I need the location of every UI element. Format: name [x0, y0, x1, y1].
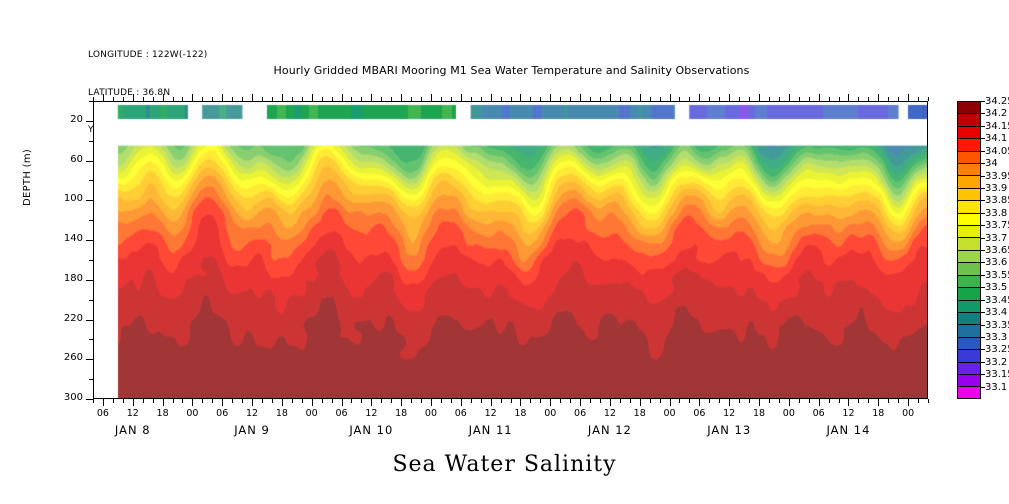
x-hour-label: 00 — [892, 408, 924, 419]
x-tick-top — [312, 94, 313, 101]
colorbar-swatch — [957, 163, 981, 175]
x-tick-top — [302, 97, 303, 101]
x-minor-tick — [93, 399, 94, 403]
colorbar-swatch — [957, 386, 981, 398]
x-tick — [520, 399, 521, 406]
x-tick-top — [749, 97, 750, 101]
x-tick — [222, 399, 223, 406]
x-minor-tick — [540, 399, 541, 403]
x-tick-top — [789, 94, 790, 101]
chart-title: Hourly Gridded MBARI Mooring M1 Sea Wate… — [0, 64, 1009, 77]
y-tick-label: 260 — [55, 352, 83, 363]
x-tick-top — [769, 97, 770, 101]
x-minor-tick — [481, 399, 482, 403]
x-tick-top — [650, 97, 651, 101]
x-tick-top — [421, 97, 422, 101]
x-hour-label: 12 — [355, 408, 387, 419]
x-tick — [848, 399, 849, 406]
x-minor-tick — [351, 399, 352, 403]
colorbar-tick — [981, 176, 985, 177]
colorbar-swatch — [957, 250, 981, 262]
x-tick-top — [501, 97, 502, 101]
x-tick-top — [829, 97, 830, 101]
x-hour-label: 06 — [87, 408, 119, 419]
x-minor-tick — [600, 399, 601, 403]
colorbar-tick — [981, 387, 985, 388]
x-minor-tick — [620, 399, 621, 403]
x-minor-tick — [749, 399, 750, 403]
colorbar-tick — [981, 337, 985, 338]
y-minor-tick — [89, 141, 93, 142]
colorbar-tick — [981, 349, 985, 350]
x-tick — [431, 399, 432, 406]
x-tick-top — [898, 97, 899, 101]
x-tick-top — [630, 97, 631, 101]
x-tick-top — [173, 97, 174, 101]
x-tick-top — [262, 97, 263, 101]
x-tick-top — [491, 94, 492, 101]
x-tick — [580, 399, 581, 406]
x-hour-label: 18 — [147, 408, 179, 419]
x-tick-top — [153, 97, 154, 101]
colorbar-label: 33.7 — [985, 233, 1007, 244]
latitude-text: LATITUDE : 36.8N — [88, 87, 208, 100]
x-tick-top — [252, 94, 253, 101]
x-tick — [133, 399, 134, 406]
colorbar-label: 33.3 — [985, 332, 1007, 343]
x-tick — [789, 399, 790, 406]
x-hour-label: 18 — [743, 408, 775, 419]
x-tick-top — [908, 94, 909, 101]
colorbar-swatch — [957, 175, 981, 187]
x-tick-top — [699, 94, 700, 101]
y-minor-tick — [89, 300, 93, 301]
x-hour-label: 00 — [534, 408, 566, 419]
y-axis-title: DEPTH (m) — [22, 149, 33, 206]
colorbar-tick — [981, 362, 985, 363]
x-tick-top — [580, 94, 581, 101]
x-hour-label: 18 — [862, 408, 894, 419]
variable-label: Sea Water Salinity — [0, 452, 1009, 477]
y-minor-tick — [89, 220, 93, 221]
x-day-label: JAN 10 — [316, 423, 426, 437]
colorbar-label: 33.95 — [985, 171, 1009, 182]
colorbar-label: 33.2 — [985, 357, 1007, 368]
x-tick-top — [709, 97, 710, 101]
x-tick-top — [163, 94, 164, 101]
x-hour-label: 06 — [445, 408, 477, 419]
x-tick — [491, 399, 492, 406]
x-minor-tick — [739, 399, 740, 403]
x-tick-top — [779, 97, 780, 101]
x-minor-tick — [391, 399, 392, 403]
colorbar-label: 33.4 — [985, 307, 1007, 318]
x-minor-tick — [242, 399, 243, 403]
y-minor-tick — [89, 180, 93, 181]
x-hour-label: 06 — [683, 408, 715, 419]
x-minor-tick — [839, 399, 840, 403]
colorbar-swatch — [957, 237, 981, 249]
x-hour-label: 12 — [713, 408, 745, 419]
colorbar-tick — [981, 200, 985, 201]
x-hour-label: 18 — [385, 408, 417, 419]
x-tick-top — [441, 97, 442, 101]
x-tick-top — [520, 94, 521, 101]
colorbar-label: 33.35 — [985, 320, 1009, 331]
colorbar-label: 33.9 — [985, 183, 1007, 194]
y-tick — [86, 161, 93, 162]
x-tick-top — [133, 94, 134, 101]
x-hour-label: 12 — [594, 408, 626, 419]
x-tick — [550, 399, 551, 406]
x-tick-top — [928, 97, 929, 101]
x-minor-tick — [570, 399, 571, 403]
x-minor-tick — [511, 399, 512, 403]
colorbar-label: 33.1 — [985, 382, 1007, 393]
x-tick-top — [739, 97, 740, 101]
x-tick-top — [461, 94, 462, 101]
x-tick — [878, 399, 879, 406]
x-tick-top — [202, 97, 203, 101]
x-minor-tick — [660, 399, 661, 403]
x-minor-tick — [113, 399, 114, 403]
x-tick-top — [640, 94, 641, 101]
x-tick-top — [511, 97, 512, 101]
colorbar-tick — [981, 262, 985, 263]
x-tick-top — [292, 97, 293, 101]
x-tick-top — [570, 97, 571, 101]
x-day-label: JAN 13 — [674, 423, 784, 437]
colorbar-label: 34 — [985, 158, 998, 169]
colorbar-label: 33.15 — [985, 369, 1009, 380]
y-tick — [86, 320, 93, 321]
x-minor-tick — [232, 399, 233, 403]
x-minor-tick — [471, 399, 472, 403]
x-tick-top — [123, 97, 124, 101]
y-tick — [86, 399, 93, 400]
x-minor-tick — [501, 399, 502, 403]
x-hour-label: 18 — [504, 408, 536, 419]
x-day-label: JAN 8 — [78, 423, 188, 437]
colorbar-label: 33.85 — [985, 195, 1009, 206]
x-hour-label: 00 — [773, 408, 805, 419]
x-tick — [670, 399, 671, 406]
x-tick-top — [848, 94, 849, 101]
x-minor-tick — [322, 399, 323, 403]
x-minor-tick — [868, 399, 869, 403]
x-tick-top — [530, 97, 531, 101]
x-tick-top — [113, 97, 114, 101]
x-tick-top — [610, 94, 611, 101]
x-hour-label: 00 — [654, 408, 686, 419]
x-tick — [908, 399, 909, 406]
colorbar — [957, 101, 981, 399]
x-hour-label: 12 — [475, 408, 507, 419]
x-minor-tick — [709, 399, 710, 403]
x-tick-top — [411, 97, 412, 101]
colorbar-tick — [981, 163, 985, 164]
colorbar-tick — [981, 101, 985, 102]
x-tick-top — [182, 97, 183, 101]
x-tick-top — [232, 97, 233, 101]
y-tick — [86, 240, 93, 241]
x-tick-top — [401, 94, 402, 101]
x-minor-tick — [421, 399, 422, 403]
y-tick — [86, 121, 93, 122]
x-minor-tick — [679, 399, 680, 403]
colorbar-swatch — [957, 262, 981, 274]
x-minor-tick — [888, 399, 889, 403]
colorbar-swatch — [957, 349, 981, 361]
x-minor-tick — [302, 399, 303, 403]
x-tick-top — [600, 97, 601, 101]
colorbar-label: 34.2 — [985, 108, 1007, 119]
y-minor-tick — [89, 260, 93, 261]
x-tick-top — [858, 97, 859, 101]
x-tick — [192, 399, 193, 406]
x-tick-top — [819, 94, 820, 101]
longitude-text: LONGITUDE : 122W(-122) — [88, 49, 208, 62]
x-hour-label: 00 — [415, 408, 447, 419]
colorbar-label: 34.1 — [985, 133, 1007, 144]
x-tick-top — [351, 97, 352, 101]
y-tick-label: 180 — [55, 273, 83, 284]
x-minor-tick — [858, 399, 859, 403]
x-tick — [759, 399, 760, 406]
x-hour-label: 00 — [176, 408, 208, 419]
x-day-label: JAN 14 — [793, 423, 903, 437]
colorbar-label: 33.6 — [985, 257, 1007, 268]
x-tick-top — [670, 94, 671, 101]
x-tick-top — [689, 97, 690, 101]
x-tick-top — [371, 94, 372, 101]
x-minor-tick — [898, 399, 899, 403]
x-tick-top — [809, 97, 810, 101]
x-minor-tick — [809, 399, 810, 403]
colorbar-label: 33.8 — [985, 208, 1007, 219]
x-minor-tick — [829, 399, 830, 403]
x-tick — [819, 399, 820, 406]
colorbar-swatch — [957, 337, 981, 349]
x-tick-top — [918, 97, 919, 101]
x-tick-top — [143, 97, 144, 101]
x-hour-label: 12 — [236, 408, 268, 419]
x-minor-tick — [530, 399, 531, 403]
x-tick-top — [839, 97, 840, 101]
colorbar-swatch — [957, 312, 981, 324]
x-tick — [342, 399, 343, 406]
x-minor-tick — [719, 399, 720, 403]
x-minor-tick — [173, 399, 174, 403]
y-tick-label: 60 — [55, 154, 83, 165]
x-minor-tick — [123, 399, 124, 403]
colorbar-label: 33.75 — [985, 220, 1009, 231]
x-tick — [282, 399, 283, 406]
colorbar-label: 34.15 — [985, 121, 1009, 132]
colorbar-swatch — [957, 287, 981, 299]
colorbar-swatch — [957, 188, 981, 200]
x-tick-top — [103, 94, 104, 101]
x-tick — [640, 399, 641, 406]
colorbar-tick — [981, 138, 985, 139]
colorbar-tick — [981, 213, 985, 214]
x-tick — [610, 399, 611, 406]
chart-title-text: Hourly Gridded MBARI Mooring M1 Sea Wate… — [274, 64, 750, 77]
x-hour-label: 06 — [803, 408, 835, 419]
colorbar-tick — [981, 151, 985, 152]
x-minor-tick — [769, 399, 770, 403]
x-minor-tick — [590, 399, 591, 403]
x-hour-label: 06 — [206, 408, 238, 419]
x-minor-tick — [153, 399, 154, 403]
colorbar-label: 33.25 — [985, 344, 1009, 355]
x-tick-top — [342, 94, 343, 101]
x-tick-top — [451, 97, 452, 101]
y-tick-label: 300 — [55, 392, 83, 403]
x-tick-top — [550, 94, 551, 101]
x-tick-top — [878, 94, 879, 101]
colorbar-tick — [981, 374, 985, 375]
x-minor-tick — [560, 399, 561, 403]
x-tick — [252, 399, 253, 406]
colorbar-swatch — [957, 138, 981, 150]
colorbar-swatch — [957, 126, 981, 138]
x-tick-top — [729, 94, 730, 101]
x-minor-tick — [212, 399, 213, 403]
colorbar-swatch — [957, 225, 981, 237]
colorbar-tick — [981, 275, 985, 276]
x-minor-tick — [689, 399, 690, 403]
x-minor-tick — [361, 399, 362, 403]
x-tick-top — [242, 97, 243, 101]
y-tick — [86, 359, 93, 360]
x-tick-top — [540, 97, 541, 101]
x-tick-top — [192, 94, 193, 101]
y-tick — [86, 200, 93, 201]
y-tick — [86, 280, 93, 281]
colorbar-tick — [981, 188, 985, 189]
colorbar-label: 33.65 — [985, 245, 1009, 256]
colorbar-swatch — [957, 101, 981, 113]
colorbar-tick — [981, 325, 985, 326]
x-minor-tick — [650, 399, 651, 403]
y-minor-tick — [89, 339, 93, 340]
colorbar-swatch — [957, 275, 981, 287]
colorbar-tick — [981, 300, 985, 301]
x-tick-top — [282, 94, 283, 101]
x-minor-tick — [451, 399, 452, 403]
x-minor-tick — [799, 399, 800, 403]
x-tick-top — [759, 94, 760, 101]
x-tick-top — [590, 97, 591, 101]
x-tick — [729, 399, 730, 406]
colorbar-tick — [981, 250, 985, 251]
colorbar-swatch — [957, 300, 981, 312]
x-minor-tick — [332, 399, 333, 403]
colorbar-swatch — [957, 213, 981, 225]
x-hour-label: 06 — [564, 408, 596, 419]
colorbar-tick — [981, 238, 985, 239]
x-hour-label: 00 — [296, 408, 328, 419]
x-tick-top — [431, 94, 432, 101]
x-minor-tick — [918, 399, 919, 403]
x-tick-top — [868, 97, 869, 101]
x-minor-tick — [928, 399, 929, 403]
x-day-label: JAN 11 — [436, 423, 546, 437]
x-minor-tick — [411, 399, 412, 403]
y-minor-tick — [89, 101, 93, 102]
colorbar-swatch — [957, 374, 981, 386]
x-day-label: JAN 12 — [555, 423, 665, 437]
colorbar-label: 33.45 — [985, 295, 1009, 306]
x-tick-top — [471, 97, 472, 101]
x-tick-top — [272, 97, 273, 101]
x-minor-tick — [272, 399, 273, 403]
x-minor-tick — [441, 399, 442, 403]
x-tick — [461, 399, 462, 406]
x-minor-tick — [182, 399, 183, 403]
colorbar-label: 33.5 — [985, 282, 1007, 293]
x-tick-top — [332, 97, 333, 101]
colorbar-swatch — [957, 151, 981, 163]
x-tick-top — [888, 97, 889, 101]
x-tick — [699, 399, 700, 406]
y-tick-label: 140 — [55, 233, 83, 244]
x-hour-label: 18 — [624, 408, 656, 419]
x-tick-top — [799, 97, 800, 101]
colorbar-label: 34.05 — [985, 146, 1009, 157]
x-minor-tick — [630, 399, 631, 403]
x-tick-top — [560, 97, 561, 101]
salinity-contour-plot — [93, 101, 928, 399]
x-tick — [103, 399, 104, 406]
x-tick-top — [719, 97, 720, 101]
colorbar-swatch — [957, 113, 981, 125]
x-tick-top — [322, 97, 323, 101]
x-tick-top — [93, 97, 94, 101]
x-hour-label: 12 — [117, 408, 149, 419]
y-tick-label: 20 — [55, 114, 83, 125]
x-tick — [163, 399, 164, 406]
x-minor-tick — [202, 399, 203, 403]
colorbar-label: 33.55 — [985, 270, 1009, 281]
y-tick-label: 100 — [55, 193, 83, 204]
x-tick — [312, 399, 313, 406]
x-hour-label: 12 — [832, 408, 864, 419]
x-tick — [401, 399, 402, 406]
x-tick-top — [481, 97, 482, 101]
x-day-label: JAN 9 — [197, 423, 307, 437]
x-tick-top — [679, 97, 680, 101]
x-tick-top — [660, 97, 661, 101]
x-minor-tick — [143, 399, 144, 403]
x-tick-top — [381, 97, 382, 101]
colorbar-tick — [981, 113, 985, 114]
y-tick-label: 220 — [55, 313, 83, 324]
colorbar-label: 34.25 — [985, 96, 1009, 107]
x-minor-tick — [381, 399, 382, 403]
x-tick-top — [212, 97, 213, 101]
y-minor-tick — [89, 379, 93, 380]
x-tick-top — [361, 97, 362, 101]
x-minor-tick — [779, 399, 780, 403]
x-tick — [371, 399, 372, 406]
x-minor-tick — [292, 399, 293, 403]
colorbar-tick — [981, 225, 985, 226]
colorbar-swatch — [957, 200, 981, 212]
colorbar-swatch — [957, 362, 981, 374]
colorbar-tick — [981, 126, 985, 127]
